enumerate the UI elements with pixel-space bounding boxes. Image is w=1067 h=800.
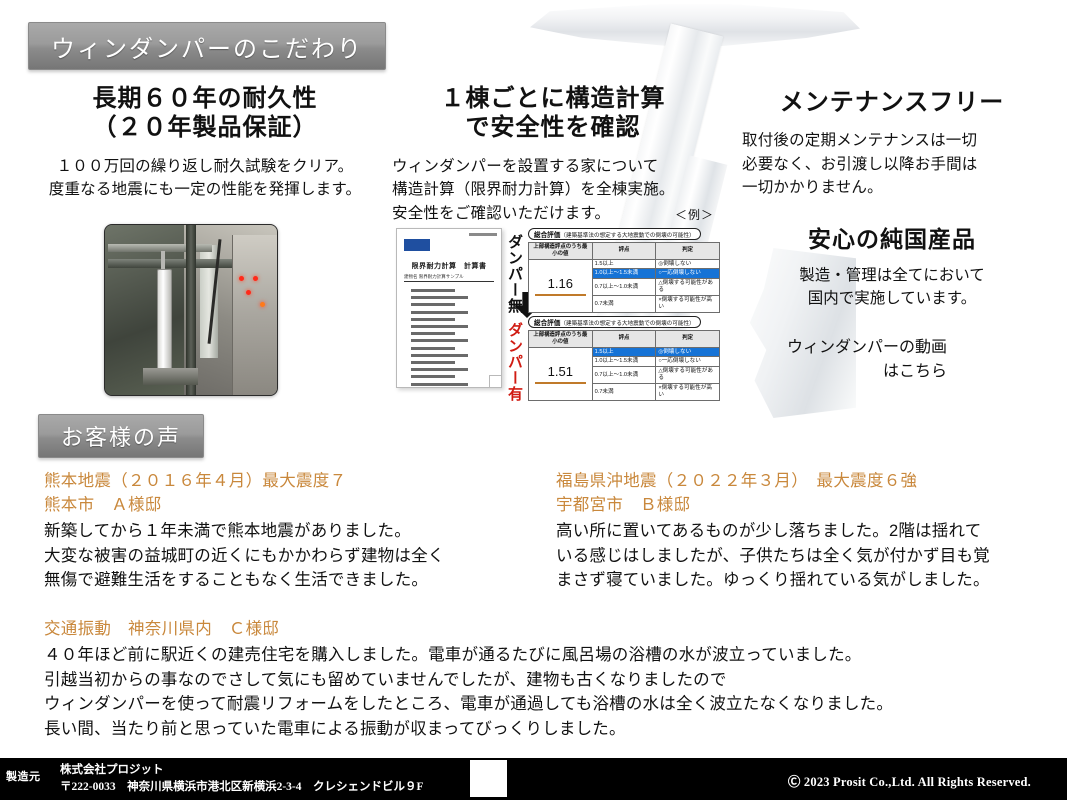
col-header-grade: 評点 (592, 243, 656, 260)
table-header-row: 上部構造評点のうち最小の値 評点 判定 (529, 331, 720, 348)
feature-body-domestic-product: 製造・管理は全てにおいて 国内で実施しています。 (742, 264, 1042, 311)
feature-title-maintenance-free: メンテナンスフリー (742, 88, 1042, 117)
judgement-cell: ○一応倒壊しない (656, 269, 720, 279)
evaluation-table-without-damper: 総合評価（建築基準法の想定する大地震動での倒壊の可能性） 上部構造評点のうち最小… (528, 224, 720, 313)
grade-cell: 0.7以上～1.0未満 (592, 367, 656, 384)
document-toc-line (411, 347, 455, 350)
document-toc-line (411, 383, 468, 386)
testimonial-heading: 交通振動 神奈川県内 Ｃ様邸 (44, 618, 1034, 642)
document-toc-line (411, 368, 468, 371)
feature-body-maintenance-free: 取付後の定期メンテナンスは一切 必要なく、お引渡し以降お手間は 一切かかりません… (742, 129, 1042, 200)
document-toc-line (411, 303, 455, 306)
grade-cell: 1.5以上 (592, 259, 656, 269)
manufacturer-label: 製造元 (6, 768, 41, 784)
document-subtitle: 建物名 限界耐力計算サンプル (404, 274, 464, 280)
judgement-cell: ○一応倒壊しない (656, 357, 720, 367)
document-toc-line (411, 354, 468, 357)
evaluation-score: 1.16 (529, 259, 593, 313)
grade-cell: 0.7以上～1.0未満 (592, 279, 656, 296)
evaluation-caption: 総合評価（建築基準法の想定する大地震動での倒壊の可能性） (528, 228, 701, 240)
evaluation-score: 1.51 (529, 347, 593, 401)
document-toc-line (411, 318, 455, 321)
grade-cell: 1.5以上 (592, 347, 656, 357)
copyright-notice: Ⓒ 2023 Prosit Co.,Ltd. All Rights Reserv… (788, 771, 1031, 790)
col-header-judgement: 判定 (656, 243, 720, 260)
company-name: 株式会社プロジット (60, 762, 424, 779)
judgement-cell: ×倒壊する可能性が高い (656, 384, 720, 401)
feature-title-durability: 長期６０年の耐久性 （２０年製品保証） (40, 84, 370, 143)
qr-code-icon-footer[interactable] (470, 760, 507, 797)
document-toc-line (411, 289, 455, 292)
testimonial-heading: 福島県沖地震（２０２２年３月） 最大震度６強 宇都宮市 Ｂ様邸 (556, 470, 1036, 518)
table-row: 1.161.5以上◎倒壊しない (529, 259, 720, 269)
page-footer: 製造元 株式会社プロジット 〒222-0033 神奈川県横浜市港北区新横浜2-3… (0, 758, 1067, 800)
evaluation-caption: 総合評価（建築基準法の想定する大地震動での倒壊の可能性） (528, 316, 701, 328)
section-ribbon-customer-voice: お客様の声 (38, 414, 204, 458)
video-link-text: ウィンダンパーの動画 はこちら (742, 336, 947, 384)
table-header-row: 上部構造評点のうち最小の値 評点 判定 (529, 243, 720, 260)
col-header-score-value: 上部構造評点のうち最小の値 (529, 243, 593, 260)
grade-cell: 0.7未満 (592, 296, 656, 313)
document-toc-line (411, 339, 468, 342)
feature-body-durability: １００万回の繰り返し耐久試験をクリア。 度重なる地震にも一定の性能を発揮します。 (40, 155, 370, 202)
evaluation-table: 上部構造評点のうち最小の値 評点 判定 1.511.5以上◎倒壊しない1.0以上… (528, 330, 720, 401)
qr-code-icon-video[interactable] (958, 338, 1026, 406)
structural-calc-example: ＜例＞ 限界耐力計算 計算書 建物名 限界耐力計算サンプル ダンパー無 ダンパー… (392, 206, 722, 406)
evaluation-table: 上部構造評点のうち最小の値 評点 判定 1.161.5以上◎倒壊しない1.0以上… (528, 242, 720, 313)
testimonial-kumamoto: 熊本地震（２０１６年４月）最大震度７ 熊本市 Ａ様邸 新築してから１年未満で熊本… (44, 470, 544, 593)
grade-cell: 1.0以上～1.5未満 (592, 357, 656, 367)
brochure-page: ウィンダンパーのこだわり 長期６０年の耐久性 （２０年製品保証） １００万回の繰… (0, 0, 1067, 800)
testimonial-body: ４０年ほど前に駅近くの建売住宅を購入しました。電車が通るたびに風呂場の浴槽の水が… (44, 643, 1034, 742)
document-tag-badge (404, 239, 430, 251)
table-row: 1.511.5以上◎倒壊しない (529, 347, 720, 357)
damper-top-bracket (530, 2, 860, 48)
company-address-block: 株式会社プロジット 〒222-0033 神奈川県横浜市港北区新横浜2-3-4 ク… (60, 762, 424, 795)
feature-title-structural-calc: １棟ごとに構造計算 で安全性を確認 (392, 84, 714, 143)
document-toc-line (411, 311, 468, 314)
testimonial-body: 高い所に置いてあるものが少し落ちました。2階は揺れて いる感じはしましたが、子供… (556, 519, 1036, 593)
document-toc-line (411, 325, 468, 328)
calc-report-document-thumbnail: 限界耐力計算 計算書 建物名 限界耐力計算サンプル (396, 228, 502, 388)
document-toc-line (411, 296, 468, 299)
grade-cell: 0.7未満 (592, 384, 656, 401)
col-header-score-value: 上部構造評点のうち最小の値 (529, 331, 593, 348)
label-with-damper: ダンパー有 (502, 322, 522, 402)
feature-column-durability: 長期６０年の耐久性 （２０年製品保証） １００万回の繰り返し耐久試験をクリア。 … (40, 84, 370, 202)
example-label: ＜例＞ (675, 206, 714, 223)
testimonial-heading: 熊本地震（２０１６年４月）最大震度７ 熊本市 Ａ様邸 (44, 470, 544, 518)
company-address: 〒222-0033 神奈川県横浜市港北区新横浜2-3-4 クレシェンドビル９F (60, 779, 424, 796)
document-title: 限界耐力計算 計算書 (397, 261, 501, 271)
document-toc-line (411, 332, 455, 335)
durability-test-machine-photo (104, 224, 278, 396)
judgement-cell: △倒壊する可能性がある (656, 279, 720, 296)
judgement-cell: ◎倒壊しない (656, 259, 720, 269)
judgement-cell: △倒壊する可能性がある (656, 367, 720, 384)
feature-column-structural-calc: １棟ごとに構造計算 で安全性を確認 ウィンダンパーを設置する家について 構造計算… (392, 84, 714, 225)
judgement-cell: ◎倒壊しない (656, 347, 720, 357)
label-without-damper: ダンパー無 (502, 234, 522, 314)
col-header-judgement: 判定 (656, 331, 720, 348)
grade-cell: 1.0以上～1.5未満 (592, 269, 656, 279)
feature-title-domestic-product: 安心の純国産品 (742, 220, 1042, 254)
col-header-grade: 評点 (592, 331, 656, 348)
testimonial-traffic-vibration: 交通振動 神奈川県内 Ｃ様邸 ４０年ほど前に駅近くの建売住宅を購入しました。電車… (44, 618, 1034, 742)
section-ribbon-features: ウィンダンパーのこだわり (28, 22, 386, 70)
document-toc-line (411, 375, 455, 378)
judgement-cell: ×倒壊する可能性が高い (656, 296, 720, 313)
testimonial-fukushima: 福島県沖地震（２０２２年３月） 最大震度６強 宇都宮市 Ｂ様邸 高い所に置いてあ… (556, 470, 1036, 593)
evaluation-table-with-damper: 総合評価（建築基準法の想定する大地震動での倒壊の可能性） 上部構造評点のうち最小… (528, 312, 720, 401)
testimonial-body: 新築してから１年未満で熊本地震がありました。 大変な被害の益城町の近くにもかかわ… (44, 519, 544, 593)
document-toc-line (411, 361, 455, 364)
